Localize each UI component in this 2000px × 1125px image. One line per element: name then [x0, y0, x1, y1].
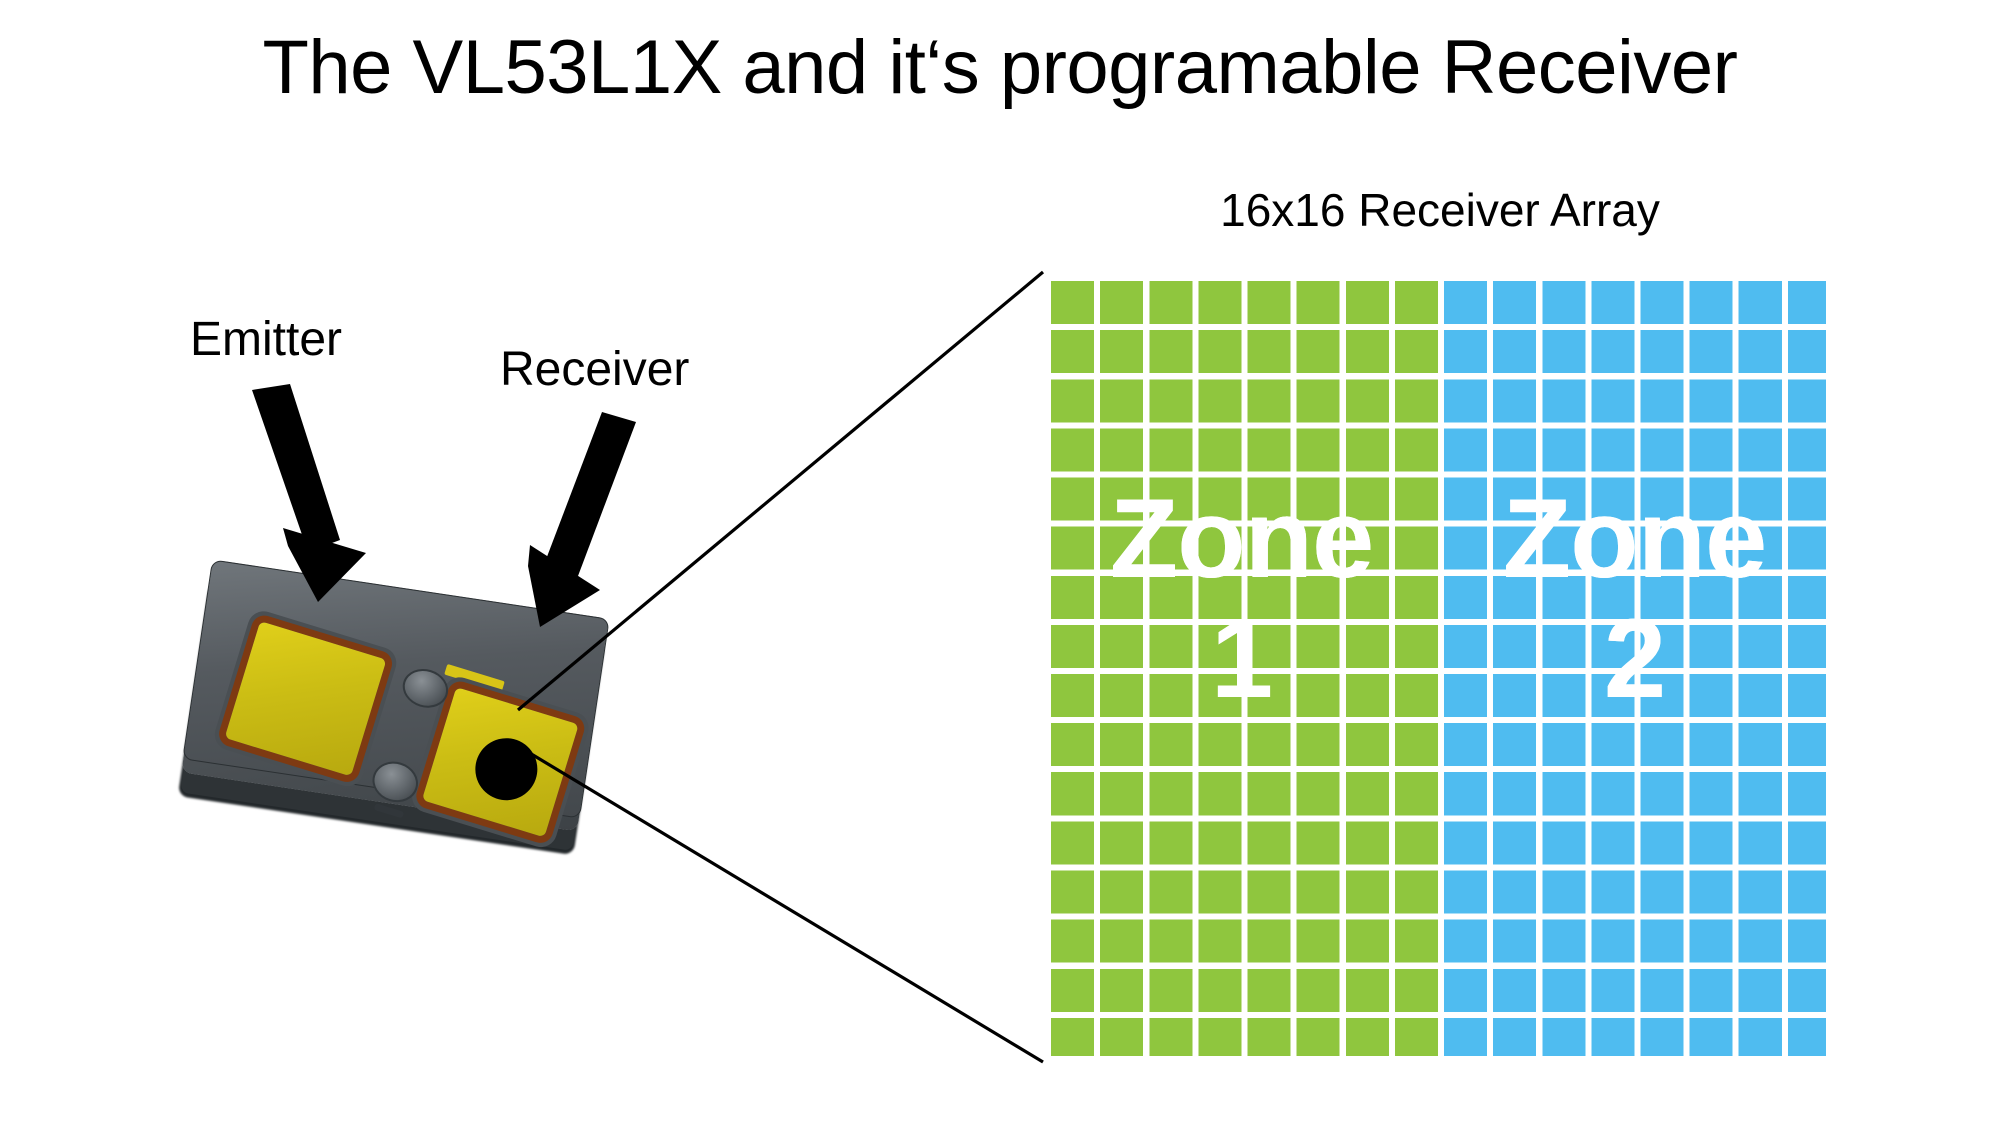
callout-label-receiver: Receiver [500, 342, 689, 397]
vl53l1x-sensor-image [185, 560, 645, 890]
array-caption: 16x16 Receiver Array [1045, 183, 1835, 237]
zone-2-name: Zone [1438, 480, 1831, 598]
sensor-yellow-tab [444, 664, 505, 692]
slide-canvas: The VL53L1X and it‘s programable Receive… [0, 0, 2000, 1125]
page-title: The VL53L1X and it‘s programable Receive… [0, 28, 2000, 108]
zone-1-name: Zone [1045, 480, 1438, 598]
sensor-pin1-notch [374, 803, 405, 818]
zone-1-label: Zone 1 [1045, 480, 1438, 717]
zone-2-label: Zone 2 [1438, 480, 1831, 717]
sensor-emitter-window [225, 621, 387, 776]
receiver-array-grid: Zone 1 Zone 2 [1045, 275, 1831, 1061]
callout-label-emitter: Emitter [190, 312, 342, 367]
zone-2-number: 2 [1438, 600, 1831, 718]
zone-1-number: 1 [1045, 600, 1438, 718]
